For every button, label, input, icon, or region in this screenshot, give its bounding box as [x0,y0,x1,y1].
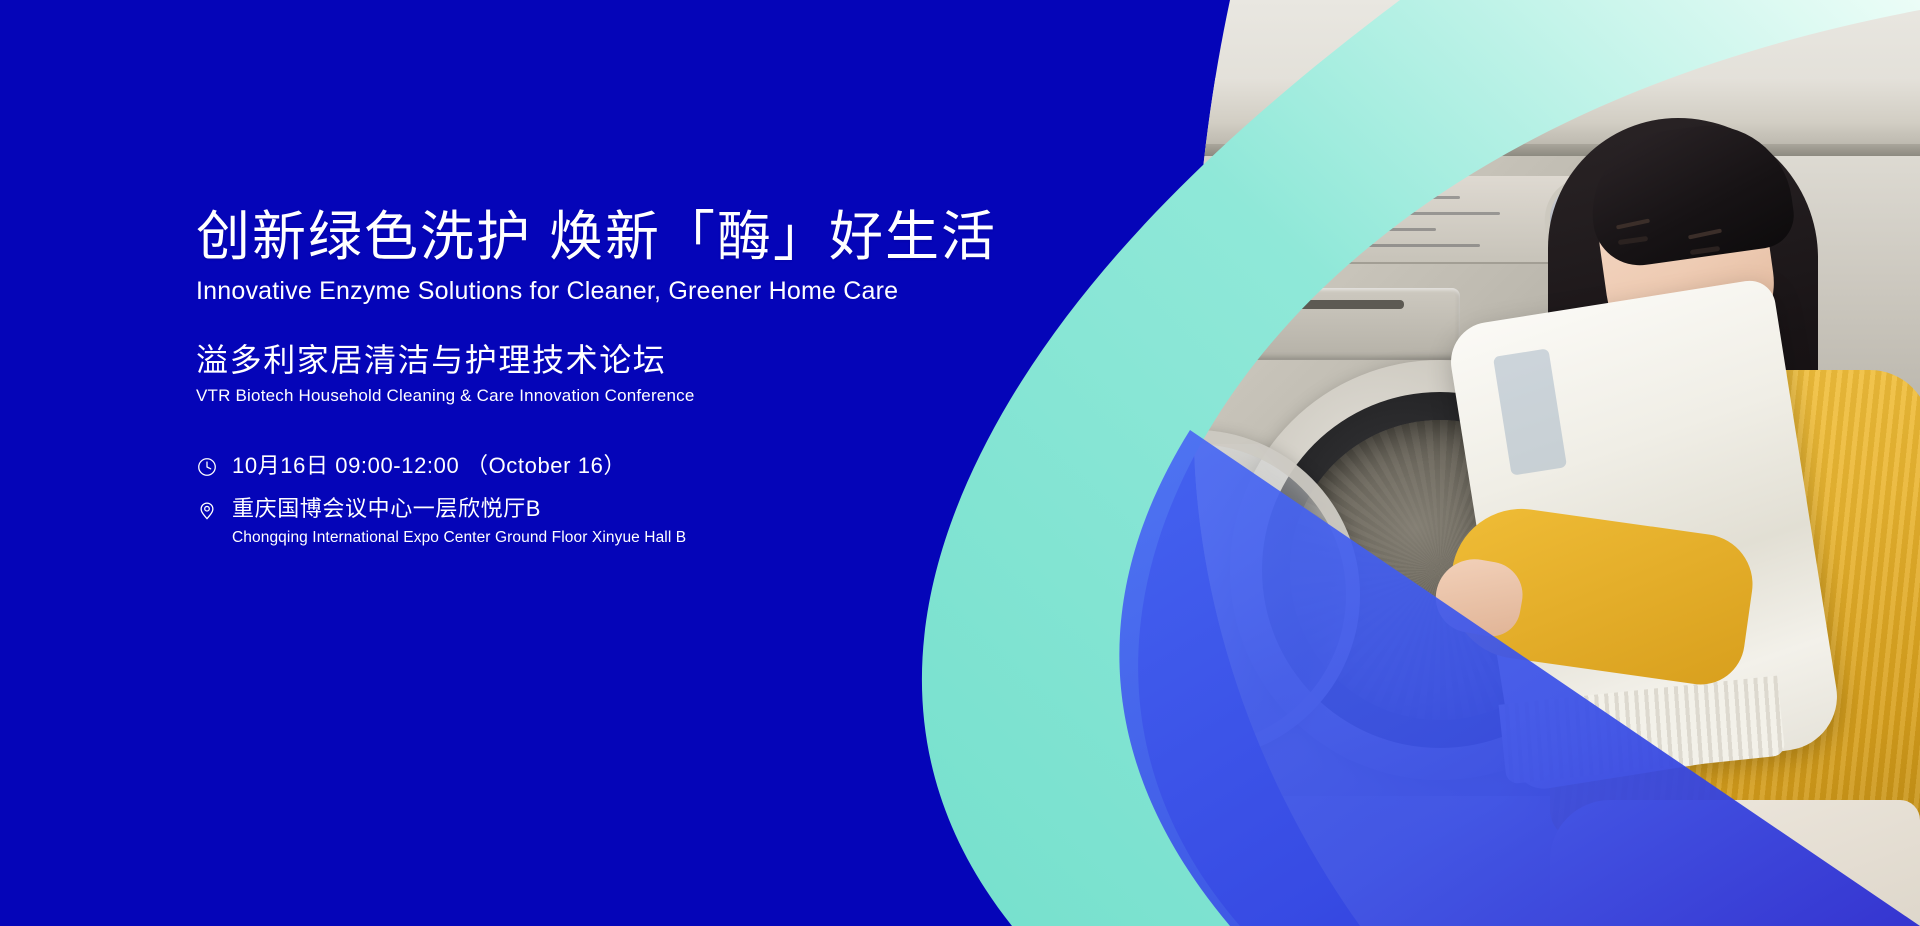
detergent-drawer [1150,288,1460,360]
conference-name: 溢多利家居清洁与护理技术论坛 [196,340,1076,380]
hero-photo-image [1150,0,1920,926]
clock-icon [196,456,218,478]
hero-photo [1150,0,1920,926]
page-title: 创新绿色洗护 焕新「酶」好生活 [196,206,1076,270]
detergent-drawer-slot [1154,300,1404,309]
conference-banner: 创新绿色洗护 焕新「酶」好生活 Innovative Enzyme Soluti… [0,0,1920,926]
event-venue-english: Chongqing International Expo Center Grou… [232,528,686,549]
event-location-text: 重庆国博会议中心一层欣悦厅B Chongqing International E… [232,495,686,550]
countertop [1150,78,1920,152]
banner-content: 创新绿色洗护 焕新「酶」好生活 Innovative Enzyme Soluti… [196,206,1076,563]
event-venue: 重庆国博会议中心一层欣悦厅B [232,495,686,524]
event-details: 10月16日 09:00-12:00 （October 16） 重庆国博会议中心… [196,452,1076,549]
event-location-row: 重庆国博会议中心一层欣悦厅B Chongqing International E… [196,495,1076,550]
event-datetime: 10月16日 09:00-12:00 （October 16） [232,452,626,481]
panel-label-line [1340,244,1480,247]
panel-label-line [1340,196,1460,199]
panel-label-line [1340,228,1436,231]
countertop-edge [1150,144,1920,156]
woman-pants [1550,800,1920,926]
location-pin-icon [196,499,218,521]
page-title-english: Innovative Enzyme Solutions for Cleaner,… [196,276,1076,306]
conference-name-english: VTR Biotech Household Cleaning & Care In… [196,385,1076,406]
panel-label-line [1340,212,1500,215]
event-datetime-text: 10月16日 09:00-12:00 （October 16） [232,452,626,481]
event-datetime-row: 10月16日 09:00-12:00 （October 16） [196,452,1076,481]
